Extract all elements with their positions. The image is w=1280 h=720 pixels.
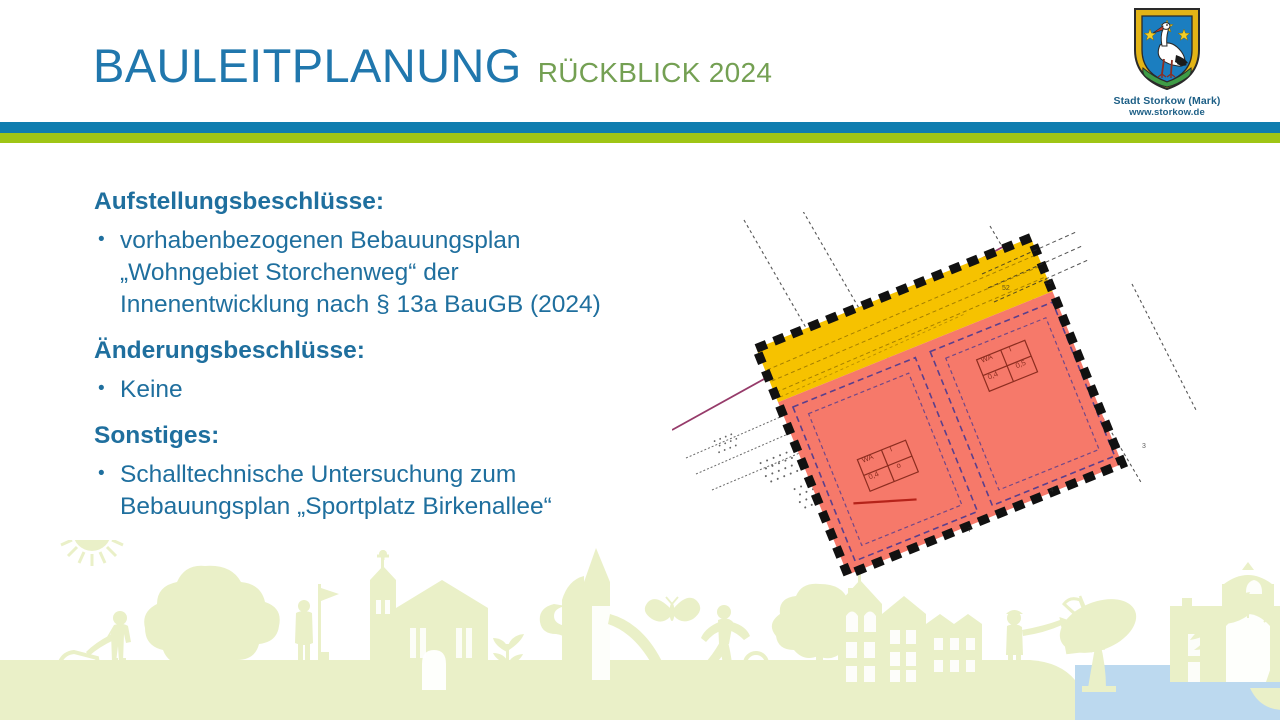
tree-icon [772, 584, 871, 704]
person-with-flag-icon [295, 584, 339, 662]
bullet-list-aenderungsbeschluesse: Keine [94, 374, 714, 406]
bullet-line: vorhabenbezogenen Bebauungsplan [120, 225, 714, 257]
page-title: BAULEITPLANUNG RÜCKBLICK 2024 [93, 42, 772, 89]
woman-with-stroller-icon [59, 611, 131, 689]
svg-text:3: 3 [1142, 443, 1146, 450]
svg-text:52: 52 [1002, 285, 1010, 292]
butterfly-icon [645, 597, 700, 622]
svg-text:7: 7 [968, 527, 972, 534]
list-item: vorhabenbezogenen Bebauungsplan „Wohngeb… [94, 225, 714, 321]
fisherman-icon [1006, 610, 1102, 706]
eagle-icon [1190, 592, 1258, 650]
header-rule-green [0, 133, 1280, 143]
satellite-dish-icon [1052, 589, 1144, 692]
bullet-list-aufstellungsbeschluesse: vorhabenbezogenen Bebauungsplan „Wohngeb… [94, 225, 714, 321]
bullet-line: Innenentwicklung nach § 13a BauGB (2024) [120, 289, 714, 321]
svg-text:13: 13 [1044, 279, 1052, 286]
slide-header: BAULEITPLANUNG RÜCKBLICK 2024 [0, 0, 1280, 143]
slide-body: Aufstellungsbeschlüsse: vorhabenbezogene… [94, 186, 714, 537]
slide-canvas: WA 0,4 I o WA 0,4 I 0,5 [0, 0, 1280, 720]
site-plan-image: WA 0,4 I o WA 0,4 I 0,5 [672, 212, 1212, 584]
logo-city-name: Stadt Storkow (Mark) [1092, 95, 1242, 107]
svg-text:4: 4 [1050, 487, 1054, 494]
plant-icon [493, 634, 524, 680]
church-icon [370, 550, 488, 690]
playground-slide-icon [540, 548, 670, 680]
storkow-coat-of-arms-icon [1131, 6, 1203, 92]
sun-icon [58, 540, 126, 566]
tree-icon [144, 566, 280, 700]
list-item: Schalltechnische Untersuchung zum Bebauu… [94, 459, 714, 523]
sailboat-icon [1250, 600, 1280, 710]
bullet-line: Keine [120, 374, 714, 406]
storkow-logo[interactable]: Stadt Storkow (Mark) www.storkow.de [1092, 6, 1242, 118]
bullet-line: Schalltechnische Untersuchung zum [120, 459, 714, 491]
section-heading-sonstiges: Sonstiges: [94, 420, 714, 451]
bullet-line: „Wohngebiet Storchenweg“ der [120, 257, 714, 289]
title-main: BAULEITPLANUNG [93, 42, 522, 89]
child-with-ball-icon [701, 605, 767, 675]
header-rule-blue [0, 122, 1280, 133]
logo-website[interactable]: www.storkow.de [1092, 107, 1242, 118]
townhouse-icon [838, 572, 982, 682]
section-heading-aenderungsbeschluesse: Änderungsbeschlüsse: [94, 335, 714, 366]
bullet-line: Bebauungsplan „Sportplatz Birkenallee“ [120, 491, 714, 523]
list-item: Keine [94, 374, 714, 406]
bullet-list-sonstiges: Schalltechnische Untersuchung zum Bebauu… [94, 459, 714, 523]
section-heading-aufstellungsbeschluesse: Aufstellungsbeschlüsse: [94, 186, 714, 217]
title-subtitle: RÜCKBLICK 2024 [538, 59, 773, 87]
